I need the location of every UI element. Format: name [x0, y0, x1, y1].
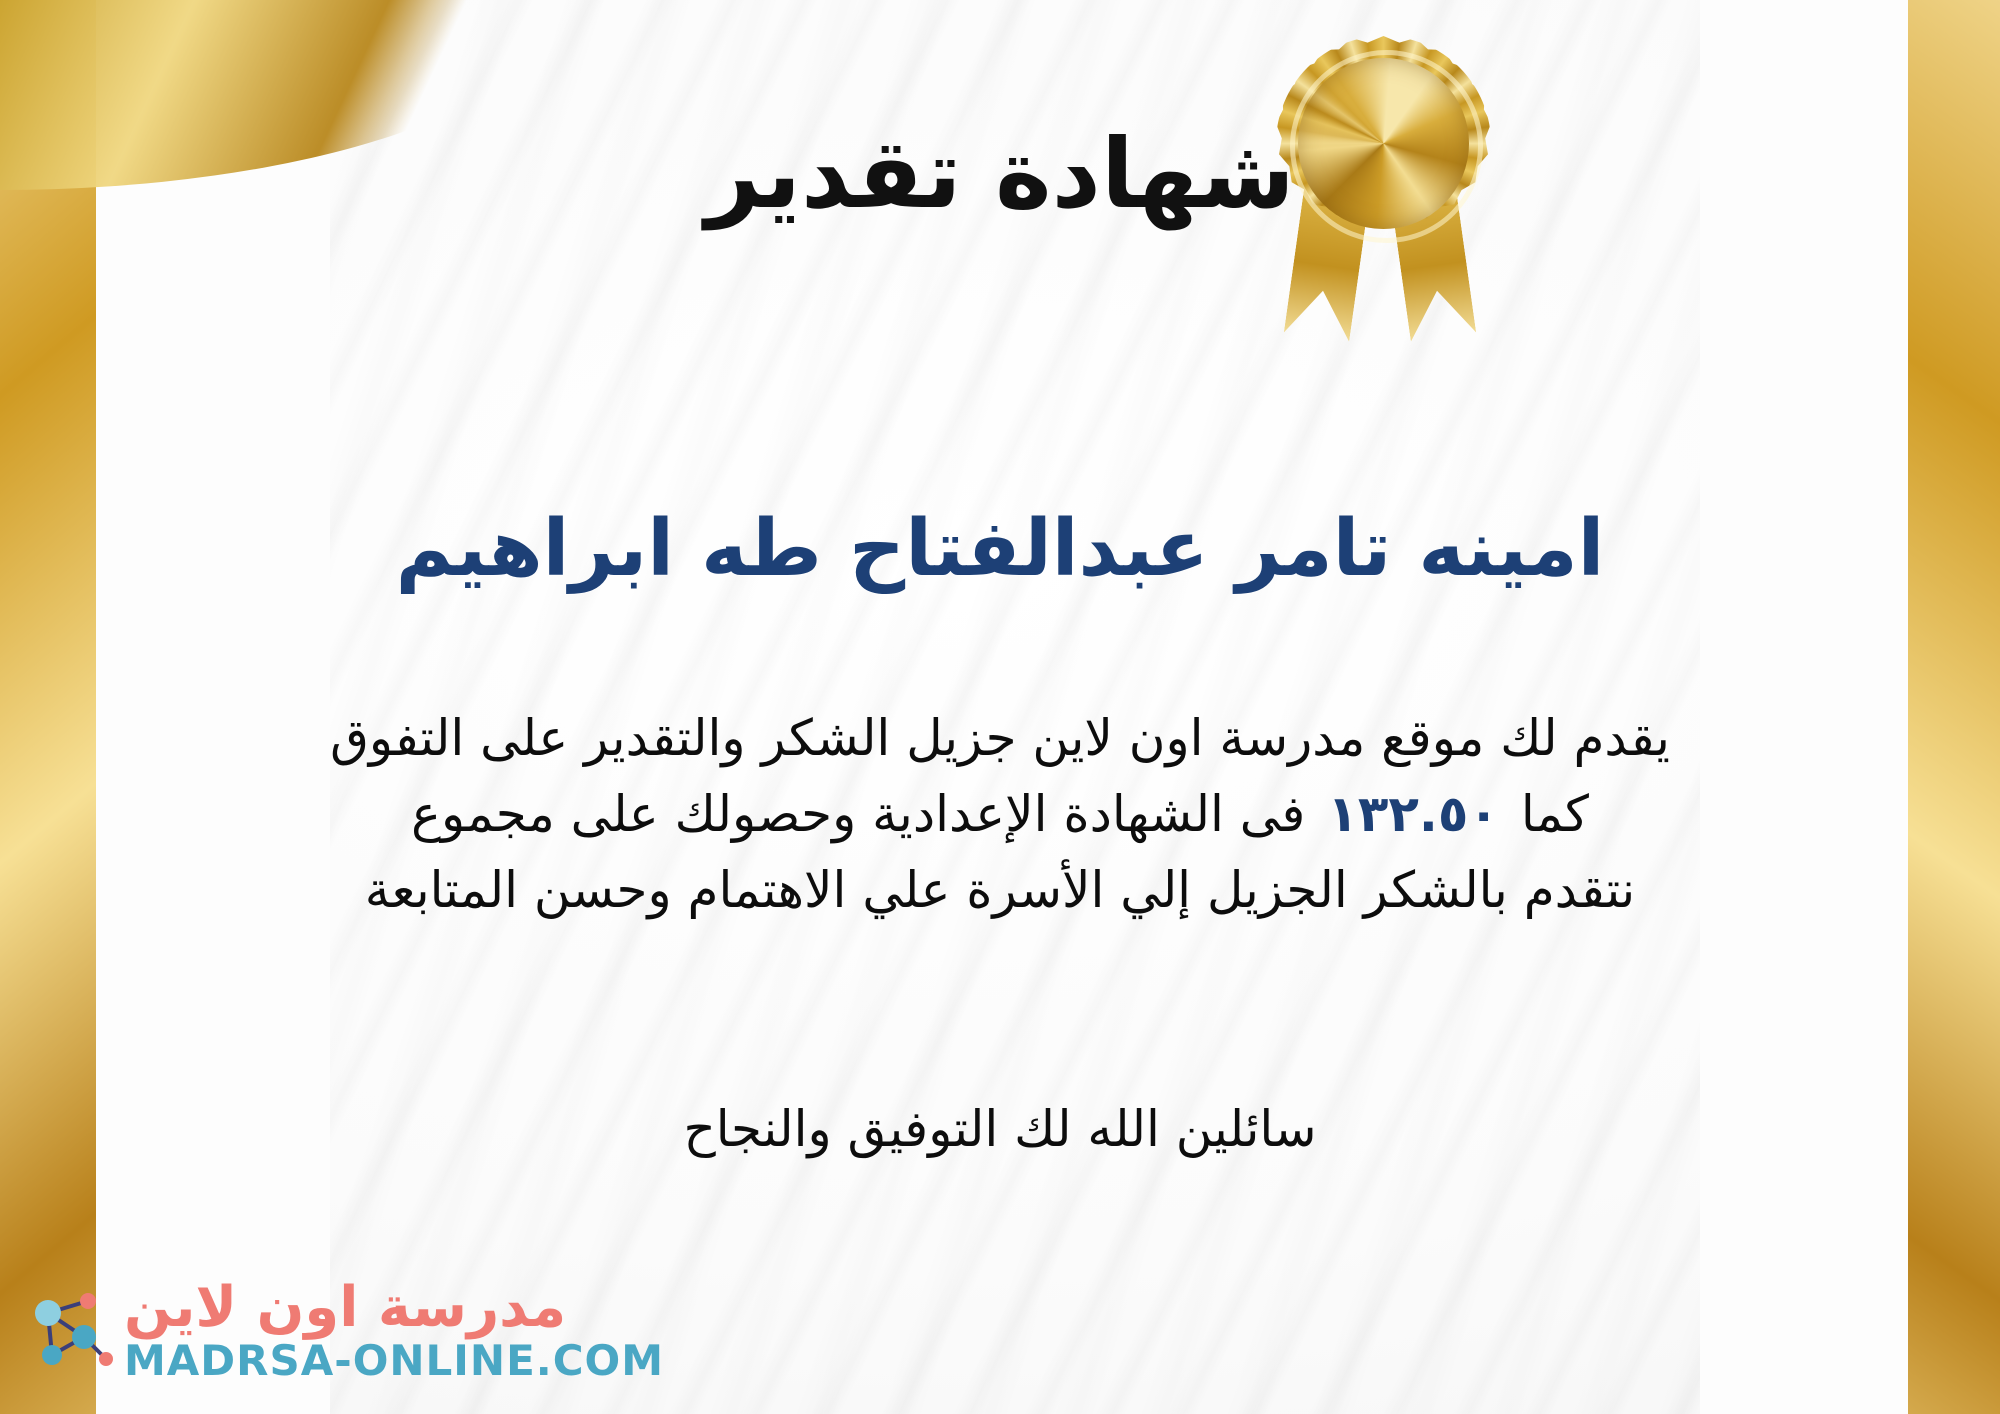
certificate-canvas: شهادة تقدير امينه تامر عبدالفتاح طه ابرا…: [0, 0, 2000, 1414]
logo-arabic-name: مدرسة اون لاين: [124, 1280, 566, 1336]
score-value: ١٣٢.٥٠: [1305, 785, 1521, 843]
body-line-2: كما١٣٢.٥٠فى الشهادة الإعدادية وحصولك على…: [55, 776, 1945, 852]
body-line-2-before: فى الشهادة الإعدادية وحصولك على مجموع: [411, 785, 1305, 843]
body-line-1: يقدم لك موقع مدرسة اون لاين جزيل الشكر و…: [55, 700, 1945, 776]
page-title: شهادة تقدير: [0, 122, 2000, 228]
closing-line: سائلين الله لك التوفيق والنجاح: [0, 1100, 2000, 1158]
logo-website: MADRSA-ONLINE.COM: [124, 1340, 664, 1382]
logo-text: مدرسة اون لاين MADRSA-ONLINE.COM: [124, 1280, 664, 1382]
body-line-2-after: كما: [1521, 785, 1589, 843]
body-line-3: نتقدم بالشكر الجزيل إلي الأسرة علي الاهت…: [55, 852, 1945, 928]
site-logo[interactable]: مدرسة اون لاين MADRSA-ONLINE.COM: [22, 1280, 664, 1382]
recipient-name: امينه تامر عبدالفتاح طه ابراهيم: [0, 505, 2000, 595]
network-nodes-icon: [22, 1285, 114, 1377]
certificate-body: يقدم لك موقع مدرسة اون لاين جزيل الشكر و…: [55, 700, 1945, 928]
